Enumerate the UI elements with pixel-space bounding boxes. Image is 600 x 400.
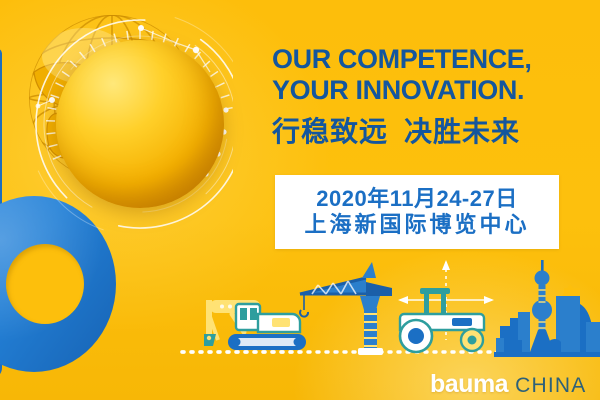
event-date: 2020年11月24-27日 bbox=[316, 186, 517, 212]
slogan-part-2: 决胜未来 bbox=[404, 116, 520, 147]
date-venue-box: 2020年11月24-27日 上海新国际博览中心 bbox=[275, 175, 559, 249]
globe-graphic bbox=[28, 14, 233, 239]
logo-region-text: CHINA bbox=[515, 374, 586, 398]
machinery-illustration bbox=[0, 252, 600, 367]
headline-block: OUR COMPETENCE, YOUR INNOVATION. 行稳致远决胜未… bbox=[272, 44, 588, 148]
shanghai-skyline-icon bbox=[494, 260, 600, 357]
globe-sphere bbox=[56, 40, 224, 208]
bauma-china-banner: OUR COMPETENCE, YOUR INNOVATION. 行稳致远决胜未… bbox=[0, 0, 600, 400]
headline-line-1: OUR COMPETENCE, bbox=[272, 44, 588, 75]
chinese-slogan: 行稳致远决胜未来 bbox=[272, 115, 588, 148]
excavator-icon bbox=[228, 304, 306, 350]
tower-crane-icon bbox=[300, 262, 392, 355]
machinery-strip bbox=[0, 252, 600, 367]
logo-brand-text: bauma bbox=[430, 370, 508, 399]
bauma-china-logo: bauma CHINA bbox=[430, 370, 586, 399]
headline-line-2: YOUR INNOVATION. bbox=[272, 75, 588, 106]
road-roller-icon bbox=[400, 288, 484, 352]
slogan-part-1: 行稳致远 bbox=[272, 116, 388, 147]
event-venue: 上海新国际博览中心 bbox=[304, 212, 529, 238]
